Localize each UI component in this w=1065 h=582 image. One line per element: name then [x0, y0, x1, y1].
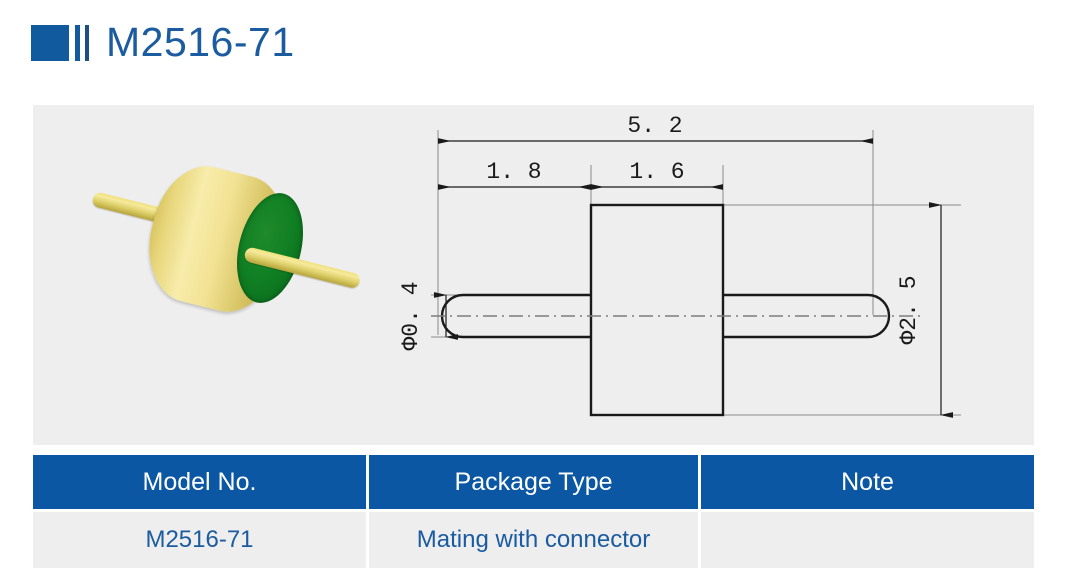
dimension-label-lead-diameter: Φ0. 4 — [398, 281, 424, 350]
marker-block — [31, 25, 69, 61]
title-marker-icon — [31, 25, 91, 61]
engineering-drawing: 5. 2 1. 8 1. 6 Φ0. 4 — [33, 105, 1034, 445]
table-header-package-type: Package Type — [369, 455, 698, 509]
dimension-label-left-lead: 1. 8 — [486, 159, 541, 185]
spec-table: Model No. Package Type Note M2516-71 Mat… — [33, 455, 1034, 568]
dimension-label-body-length: 1. 6 — [629, 159, 684, 185]
marker-bar-1 — [75, 25, 80, 61]
table-cell-package-type: Mating with connector — [369, 512, 698, 568]
table-header-note: Note — [701, 455, 1034, 509]
page-header: M2516-71 — [0, 0, 1065, 92]
marker-bar-2 — [85, 25, 89, 61]
dimension-left-lead: 1. 8 — [438, 159, 591, 187]
dimension-label-body-diameter: Φ2. 5 — [896, 275, 922, 344]
dimension-body-length: 1. 6 — [591, 159, 723, 187]
table-row: M2516-71 Mating with connector — [33, 512, 1034, 568]
drawing-panel: 5. 2 1. 8 1. 6 Φ0. 4 — [33, 105, 1034, 445]
dimension-label-overall-length: 5. 2 — [627, 113, 682, 139]
page-title: M2516-71 — [106, 19, 295, 66]
table-header-row: Model No. Package Type Note — [33, 455, 1034, 509]
table-header-model-no: Model No. — [33, 455, 366, 509]
table-cell-model-no: M2516-71 — [33, 512, 366, 568]
dimension-body-diameter: Φ2. 5 — [896, 205, 941, 415]
table-cell-note — [701, 512, 1034, 568]
dimension-overall-length: 5. 2 — [438, 113, 873, 141]
component-outline — [442, 205, 889, 415]
